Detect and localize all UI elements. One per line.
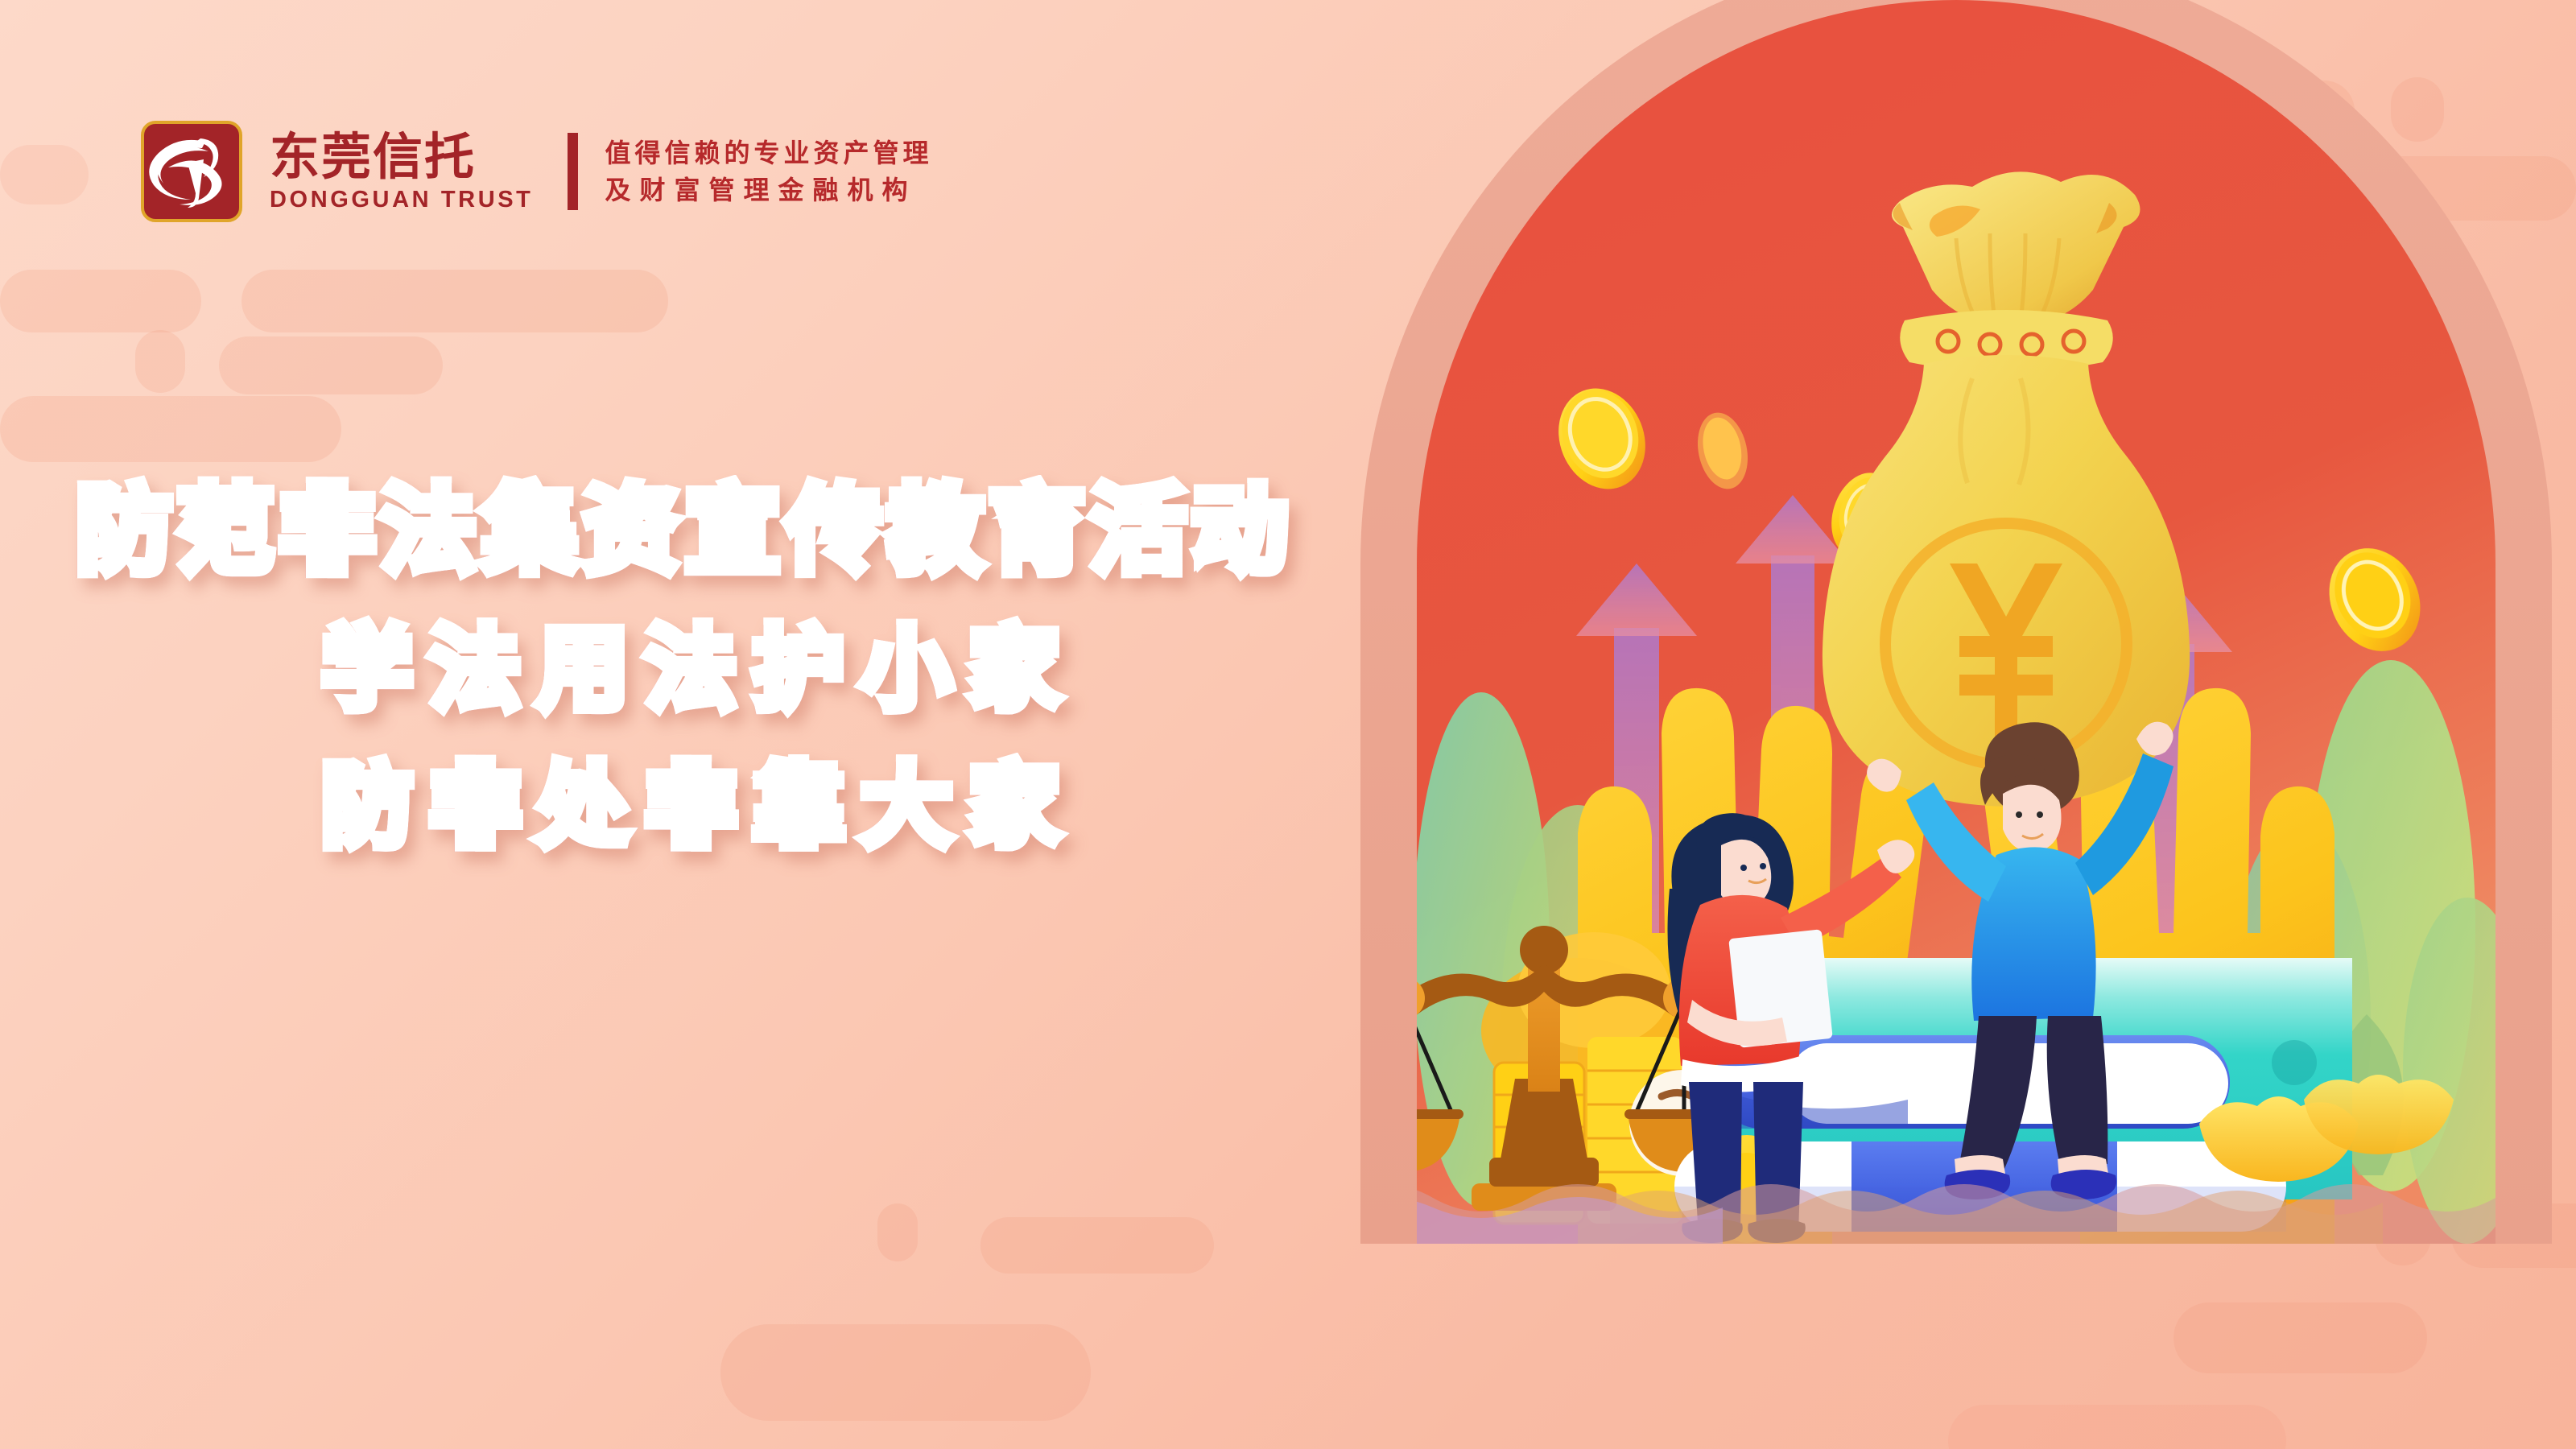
brand-name-en: DONGGUAN TRUST xyxy=(270,188,534,212)
decor-pill xyxy=(0,270,201,332)
decor-pill xyxy=(219,336,443,394)
man-face xyxy=(2003,785,2062,852)
decor-pill xyxy=(0,396,341,462)
decor-pill xyxy=(242,270,668,332)
tagline-line-2: 及财富管理金融机构 xyxy=(605,177,933,203)
decor-pill xyxy=(720,1324,1091,1421)
decor-pill xyxy=(2173,1302,2427,1373)
headline-line-3: 防非处非靠大家 xyxy=(322,762,1385,852)
decor-pill xyxy=(1948,1405,2286,1449)
illustration-artwork xyxy=(1336,0,2576,1244)
tagline-line-1: 值得信赖的专业资产管理 xyxy=(605,140,933,166)
brand-name-cn: 东莞信托 xyxy=(270,132,534,182)
decor-pill xyxy=(0,145,89,204)
dongguan-trust-emblem-icon xyxy=(141,121,242,222)
headline-line-2: 学法用法护小家 xyxy=(322,625,1385,715)
brand-logo-lockup: 东莞信托 DONGGUAN TRUST 值得信赖的专业资产管理 及财富管理金融机… xyxy=(141,121,933,222)
headline-block: 防范非法集资宣传教育活动 学法用法护小家 防非处非靠大家 xyxy=(0,483,1385,852)
logo-divider xyxy=(568,133,578,210)
decor-pill xyxy=(135,330,185,393)
decor-pill xyxy=(980,1217,1214,1274)
decor-pill xyxy=(877,1203,918,1261)
brand-wordmark: 东莞信托 DONGGUAN TRUST xyxy=(270,132,534,212)
poster-canvas: 东莞信托 DONGGUAN TRUST 值得信赖的专业资产管理 及财富管理金融机… xyxy=(0,0,2576,1449)
brand-tagline: 值得信赖的专业资产管理 及财富管理金融机构 xyxy=(605,140,933,203)
headline-line-1: 防范非法集资宣传教育活动 xyxy=(76,483,1385,578)
